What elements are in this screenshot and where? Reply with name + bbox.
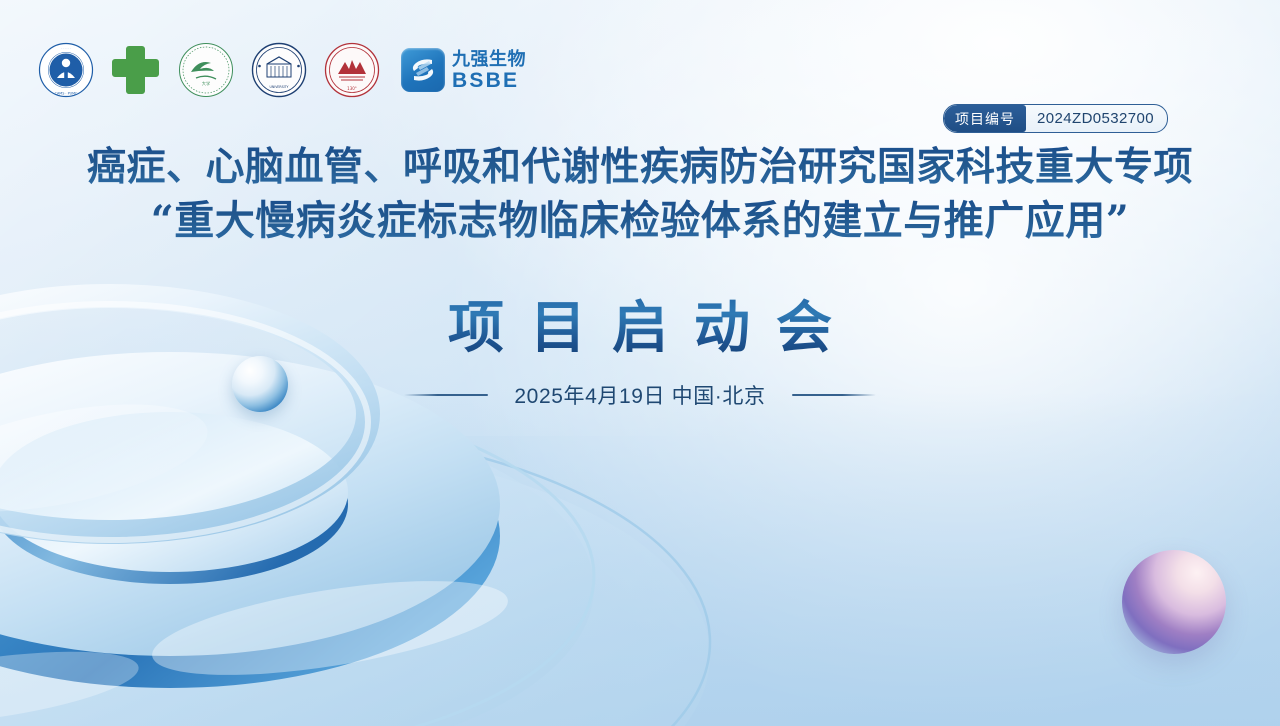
partner-logo-strip: · · · · · · CAMS · PUMC 大学 — [38, 40, 526, 100]
navy-university-seal-icon: UNIVERSITY — [251, 42, 307, 98]
project-number-label: 项目编号 — [944, 105, 1026, 132]
bsbe-brand-logo: 九强生物 BSBE — [401, 48, 526, 92]
meta-rule-left — [404, 394, 488, 396]
background-gradient-bottom — [0, 392, 1280, 726]
cams-pumc-seal-icon: · · · · · · CAMS · PUMC — [38, 42, 94, 98]
svg-text:130°: 130° — [347, 86, 357, 91]
event-headline: 项目启动会 — [0, 283, 1280, 364]
bsbe-english-name: BSBE — [452, 70, 526, 91]
green-university-seal-icon: 大学 — [178, 42, 234, 98]
iridescent-sphere — [1122, 550, 1226, 654]
svg-text:大学: 大学 — [202, 80, 210, 87]
bsbe-logo-mark-icon — [401, 48, 445, 92]
bsbe-wordmark: 九强生物 BSBE — [452, 50, 526, 91]
shandong-university-seal-icon: 130° — [324, 42, 380, 98]
program-title-line-1: 癌症、心脑血管、呼吸和代谢性疾病防治研究国家科技重大专项 — [0, 145, 1280, 190]
program-title-line-2: “重大慢病炎症标志物临床检验体系的建立与推广应用” — [0, 198, 1280, 244]
project-number-value: 2024ZD0532700 — [1026, 105, 1167, 132]
hospital-green-cross-icon — [111, 44, 161, 96]
title-block: 癌症、心脑血管、呼吸和代谢性疾病防治研究国家科技重大专项 “重大慢病炎症标志物临… — [0, 145, 1280, 244]
bsbe-chinese-name: 九强生物 — [452, 50, 526, 68]
project-number-badge: 项目编号 2024ZD0532700 — [943, 104, 1168, 133]
event-date-location: 2025年4月19日 中国·北京 — [514, 380, 765, 410]
svg-text:· · · · · ·: · · · · · · — [61, 47, 72, 51]
poster-canvas: · · · · · · CAMS · PUMC 大学 — [0, 0, 1280, 726]
meta-rule-right — [792, 394, 876, 396]
event-meta-row: 2025年4月19日 中国·北京 — [0, 380, 1280, 410]
svg-text:CAMS · PUMC: CAMS · PUMC — [55, 92, 78, 96]
svg-text:UNIVERSITY: UNIVERSITY — [270, 85, 289, 89]
